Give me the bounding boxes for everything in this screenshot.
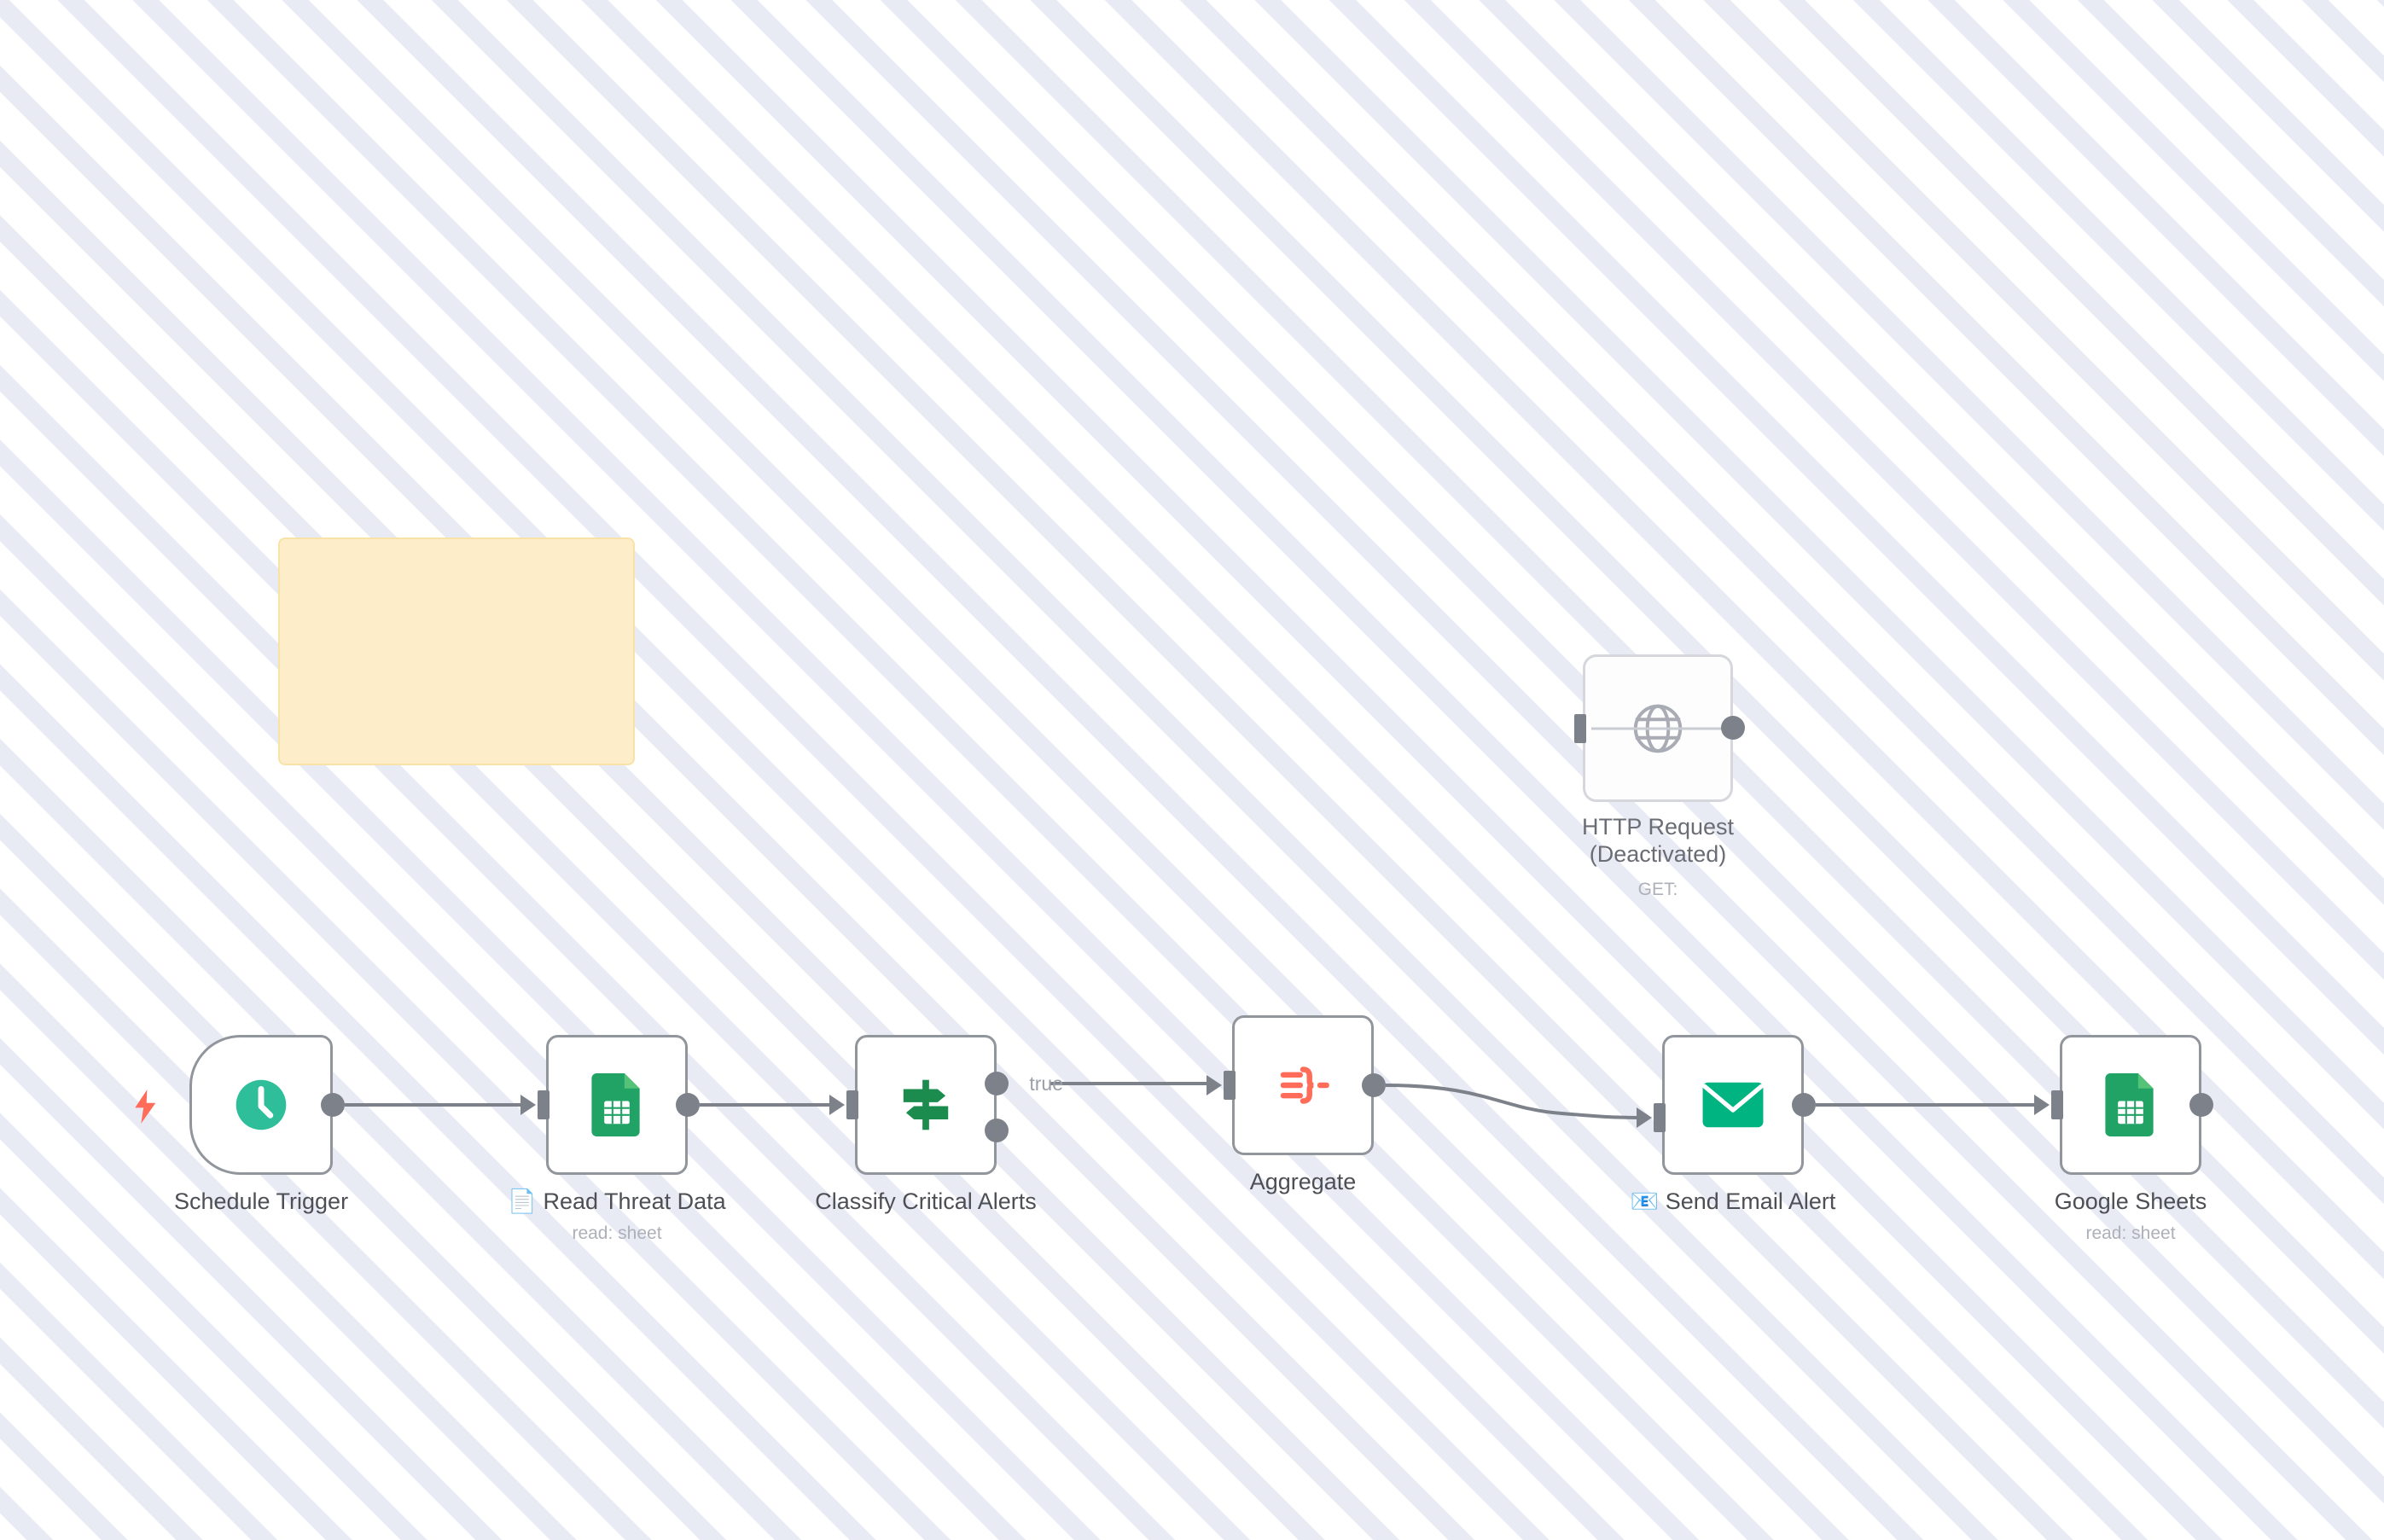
node-google-sheets[interactable]: Google Sheets read: sheet bbox=[2060, 1035, 2201, 1175]
output-port-true[interactable] bbox=[985, 1072, 1009, 1095]
node-read-threat-data-box[interactable] bbox=[546, 1035, 688, 1175]
node-http-request-sublabel: GET: bbox=[1436, 880, 1880, 900]
google-sheets-icon bbox=[2099, 1073, 2162, 1136]
output-port-false[interactable] bbox=[985, 1119, 1009, 1142]
node-http-request-label: HTTP Request (Deactivated) bbox=[1436, 814, 1880, 869]
node-classify-critical-alerts[interactable]: true Classify Critical Alerts bbox=[855, 1035, 997, 1175]
connection-edge-layer bbox=[0, 0, 2384, 1540]
node-aggregate-box[interactable] bbox=[1232, 1015, 1374, 1155]
node-google-sheets-label: Google Sheets bbox=[1909, 1188, 2352, 1216]
node-aggregate[interactable]: Aggregate bbox=[1232, 1015, 1374, 1155]
output-port[interactable] bbox=[1721, 716, 1745, 740]
node-read-threat-data-sublabel: read: sheet bbox=[395, 1223, 839, 1244]
edge-aggregate-to-send-email-alert[interactable] bbox=[1386, 1085, 1645, 1118]
output-port-true-label: true bbox=[1029, 1072, 1063, 1095]
node-send-email-alert-label: 📧 Send Email Alert bbox=[1511, 1188, 1955, 1216]
output-port[interactable] bbox=[321, 1093, 345, 1117]
sticky-note[interactable] bbox=[278, 538, 635, 765]
node-send-email-alert-box[interactable] bbox=[1662, 1035, 1804, 1175]
node-schedule-trigger[interactable]: Schedule Trigger bbox=[189, 1035, 333, 1175]
input-port[interactable] bbox=[1224, 1071, 1236, 1100]
trigger-bolt-icon bbox=[131, 1090, 160, 1124]
output-port[interactable] bbox=[676, 1093, 700, 1117]
node-schedule-trigger-box[interactable] bbox=[189, 1035, 333, 1175]
envelope-icon bbox=[1701, 1073, 1765, 1136]
input-port[interactable] bbox=[1654, 1103, 1666, 1132]
node-http-request[interactable]: HTTP Request (Deactivated) GET: bbox=[1583, 654, 1733, 802]
node-google-sheets-box[interactable] bbox=[2060, 1035, 2201, 1175]
signpost-icon bbox=[894, 1073, 957, 1136]
node-send-email-alert[interactable]: 📧 Send Email Alert bbox=[1662, 1035, 1804, 1175]
node-classify-critical-alerts-box[interactable] bbox=[855, 1035, 997, 1175]
node-read-threat-data[interactable]: 📄 Read Threat Data read: sheet bbox=[546, 1035, 688, 1175]
output-port[interactable] bbox=[1362, 1073, 1386, 1097]
output-port[interactable] bbox=[1792, 1093, 1816, 1117]
aggregate-icon bbox=[1271, 1054, 1334, 1117]
google-sheets-icon bbox=[585, 1073, 648, 1136]
input-port[interactable] bbox=[2051, 1090, 2063, 1119]
deactivated-strikethrough-line bbox=[1591, 727, 1724, 729]
input-port[interactable] bbox=[846, 1090, 858, 1119]
node-google-sheets-sublabel: read: sheet bbox=[1909, 1223, 2352, 1244]
workflow-canvas[interactable]: Schedule Trigger 📄 Read Th bbox=[0, 0, 2384, 1540]
input-port[interactable] bbox=[1574, 714, 1586, 743]
output-port[interactable] bbox=[2189, 1093, 2213, 1117]
input-port[interactable] bbox=[538, 1090, 549, 1119]
node-aggregate-label: Aggregate bbox=[1081, 1169, 1525, 1196]
clock-icon bbox=[230, 1073, 293, 1136]
